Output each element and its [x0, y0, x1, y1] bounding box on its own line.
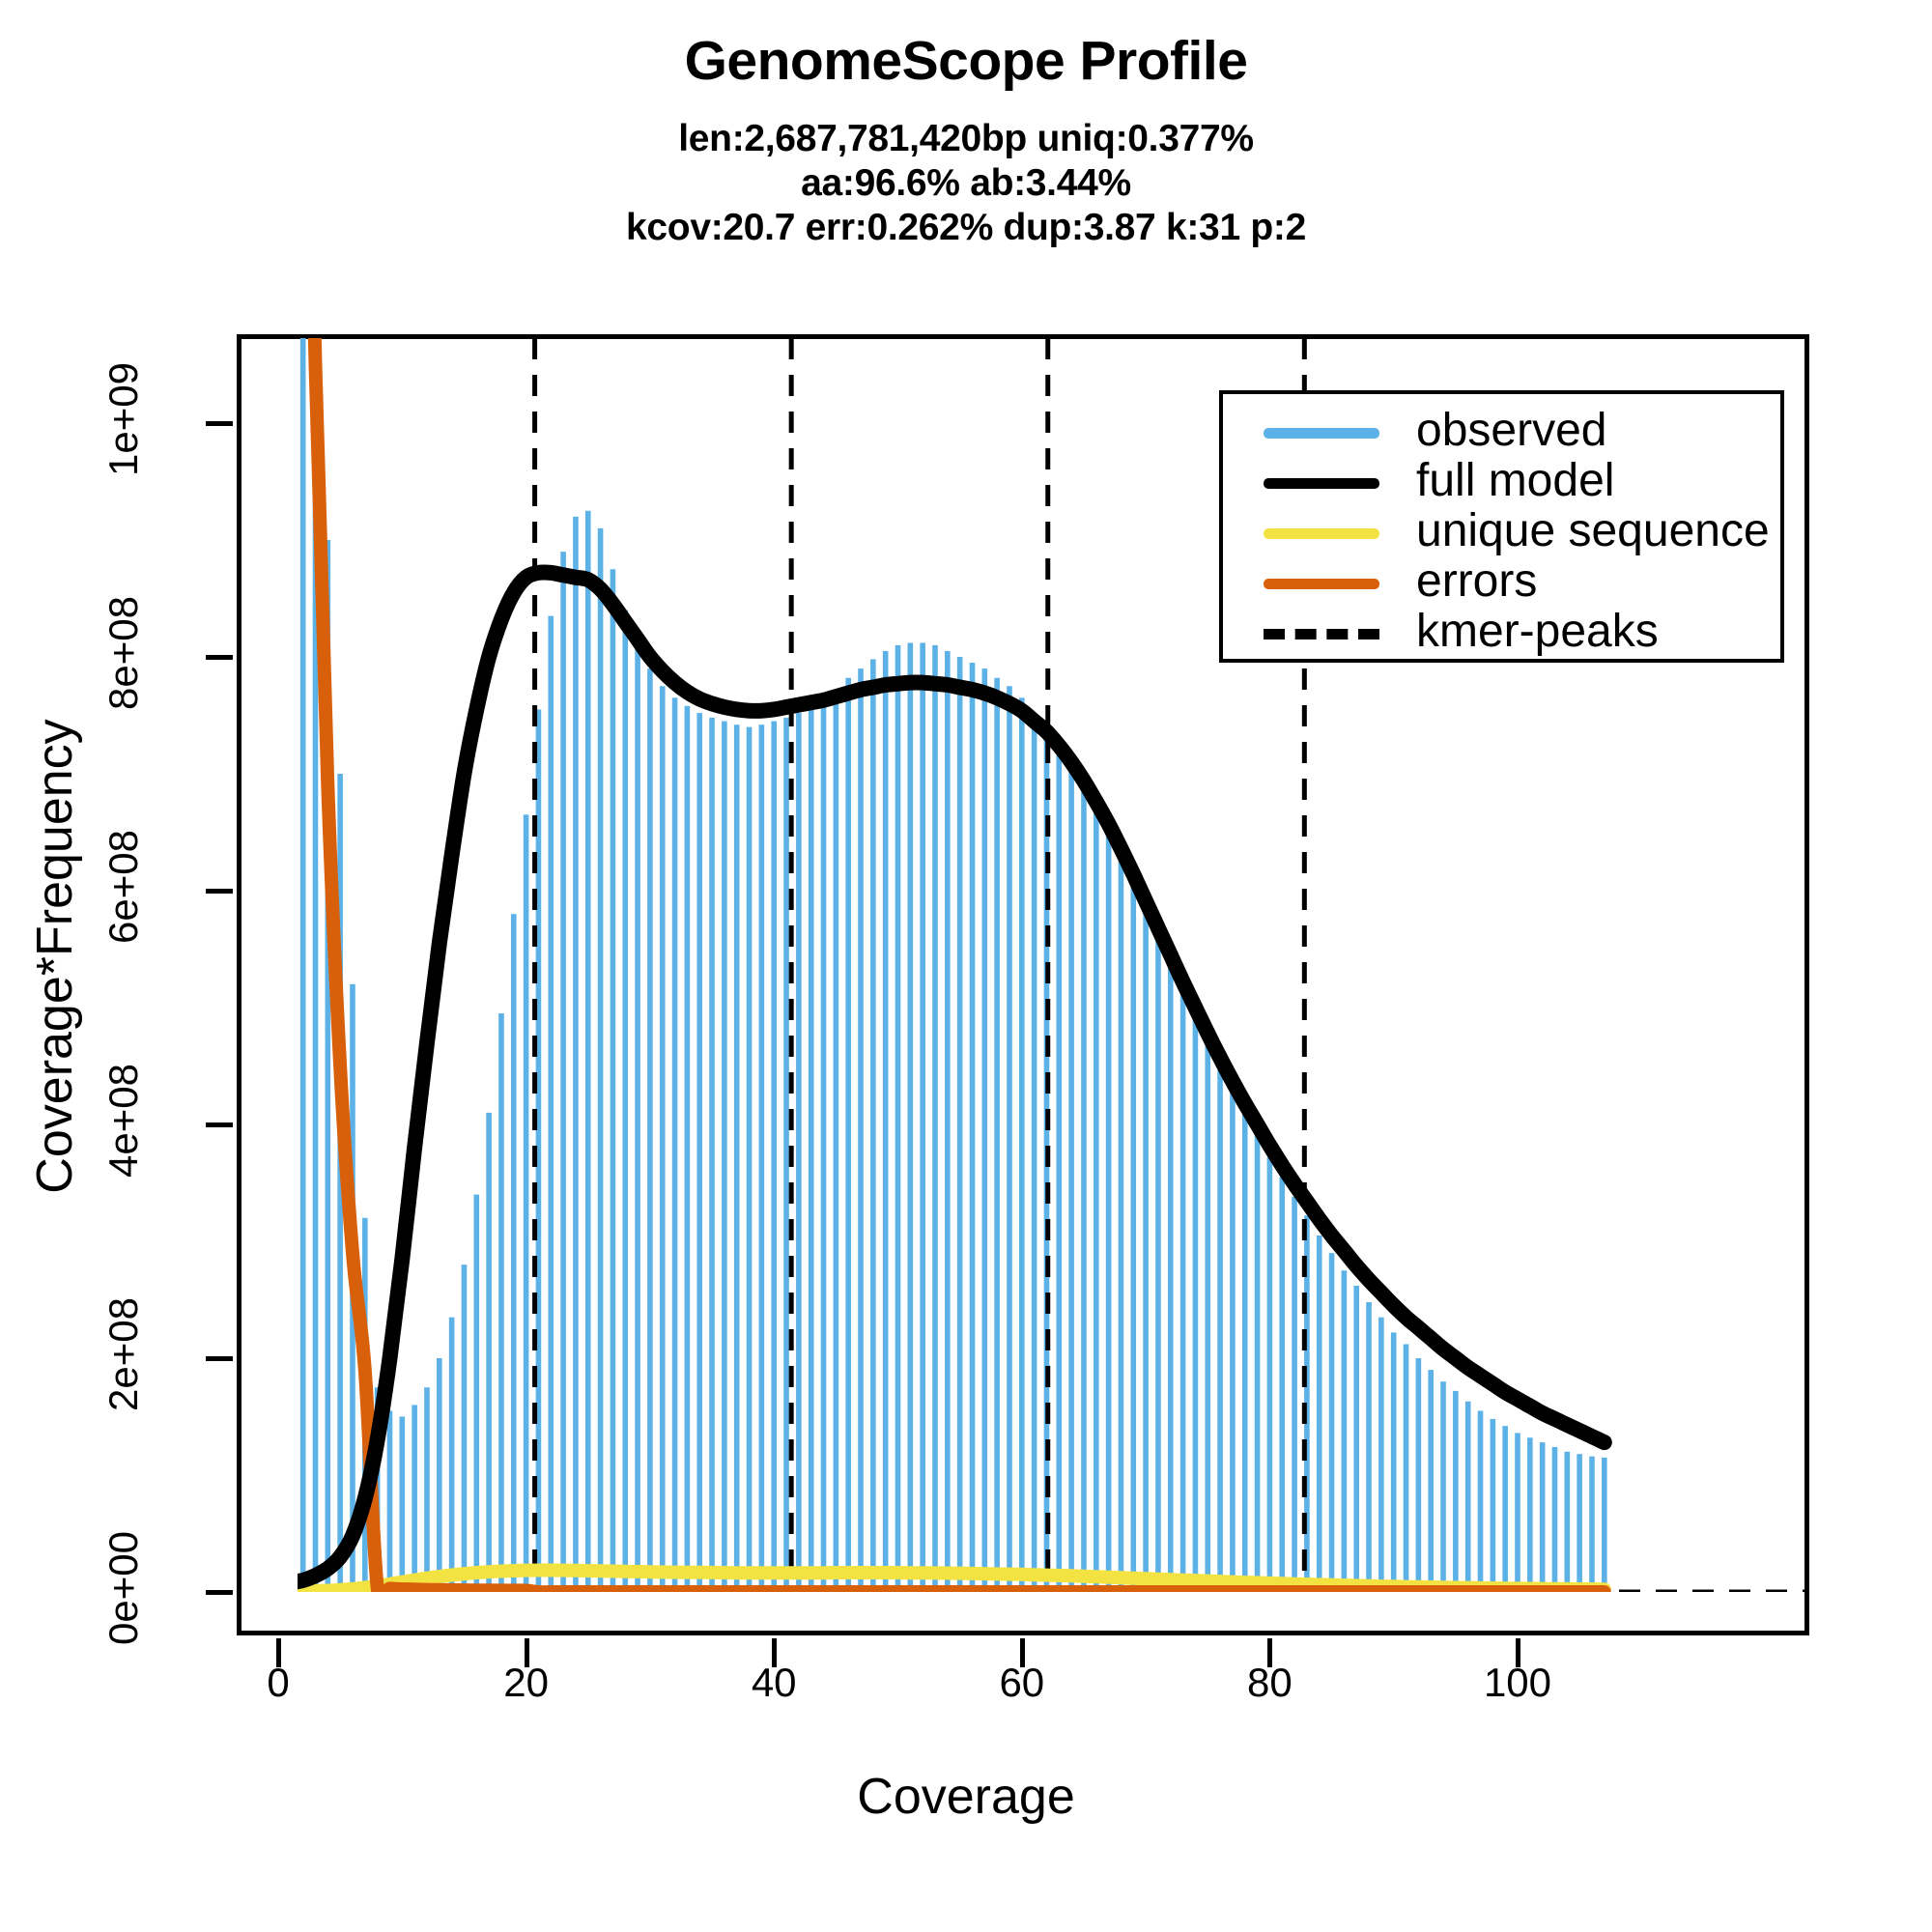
legend-label: observed: [1416, 404, 1606, 457]
legend-label: kmer-peaks: [1416, 605, 1659, 658]
y-tick-mark: [206, 655, 233, 660]
legend-item: full model: [1223, 458, 1780, 508]
x-tick-label: 40: [716, 1660, 832, 1706]
y-tick-label: 6e+08: [100, 781, 147, 993]
y-tick-mark: [206, 1590, 233, 1595]
chart-subtitle-line2: aa:96.6% ab:3.44%: [0, 162, 1932, 205]
legend-item: unique sequence: [1223, 508, 1780, 558]
chart-subtitle-line3: kcov:20.7 err:0.262% dup:3.87 k:31 p:2: [0, 207, 1932, 249]
genomescope-plot: GenomeScope Profile len:2,687,781,420bp …: [0, 0, 1932, 1932]
legend-key-swatch: [1264, 528, 1379, 539]
legend-label: full model: [1416, 454, 1614, 507]
y-axis-label: Coverage*Frequency: [26, 667, 84, 1246]
legend-label: errors: [1416, 554, 1537, 608]
y-tick-label: 8e+08: [100, 547, 147, 759]
y-tick-mark: [206, 421, 233, 426]
legend-label: unique sequence: [1416, 504, 1770, 557]
chart-title: GenomeScope Profile: [0, 29, 1932, 93]
x-tick-label: 0: [220, 1660, 336, 1706]
x-tick-label: 100: [1460, 1660, 1576, 1706]
legend-item: observed: [1223, 408, 1780, 458]
legend-key-swatch: [1264, 579, 1379, 589]
y-tick-label: 0e+00: [100, 1482, 147, 1694]
x-axis-label: Coverage: [0, 1768, 1932, 1826]
chart-legend: observedfull modelunique sequenceerrorsk…: [1219, 390, 1784, 663]
y-tick-label: 2e+08: [100, 1248, 147, 1461]
y-tick-label: 4e+08: [100, 1014, 147, 1227]
legend-key-swatch: [1264, 428, 1379, 439]
x-tick-label: 20: [469, 1660, 584, 1706]
y-tick-mark: [206, 1356, 233, 1361]
chart-subtitle-line1: len:2,687,781,420bp uniq:0.377%: [0, 118, 1932, 160]
y-tick-label: 1e+09: [100, 313, 147, 526]
legend-item: kmer-peaks: [1223, 609, 1780, 659]
legend-key-swatch: [1264, 629, 1379, 639]
y-tick-mark: [206, 1122, 233, 1127]
x-tick-label: 60: [964, 1660, 1080, 1706]
legend-item: errors: [1223, 558, 1780, 609]
y-tick-mark: [206, 889, 233, 894]
legend-key-swatch: [1264, 478, 1379, 489]
x-tick-label: 80: [1211, 1660, 1327, 1706]
